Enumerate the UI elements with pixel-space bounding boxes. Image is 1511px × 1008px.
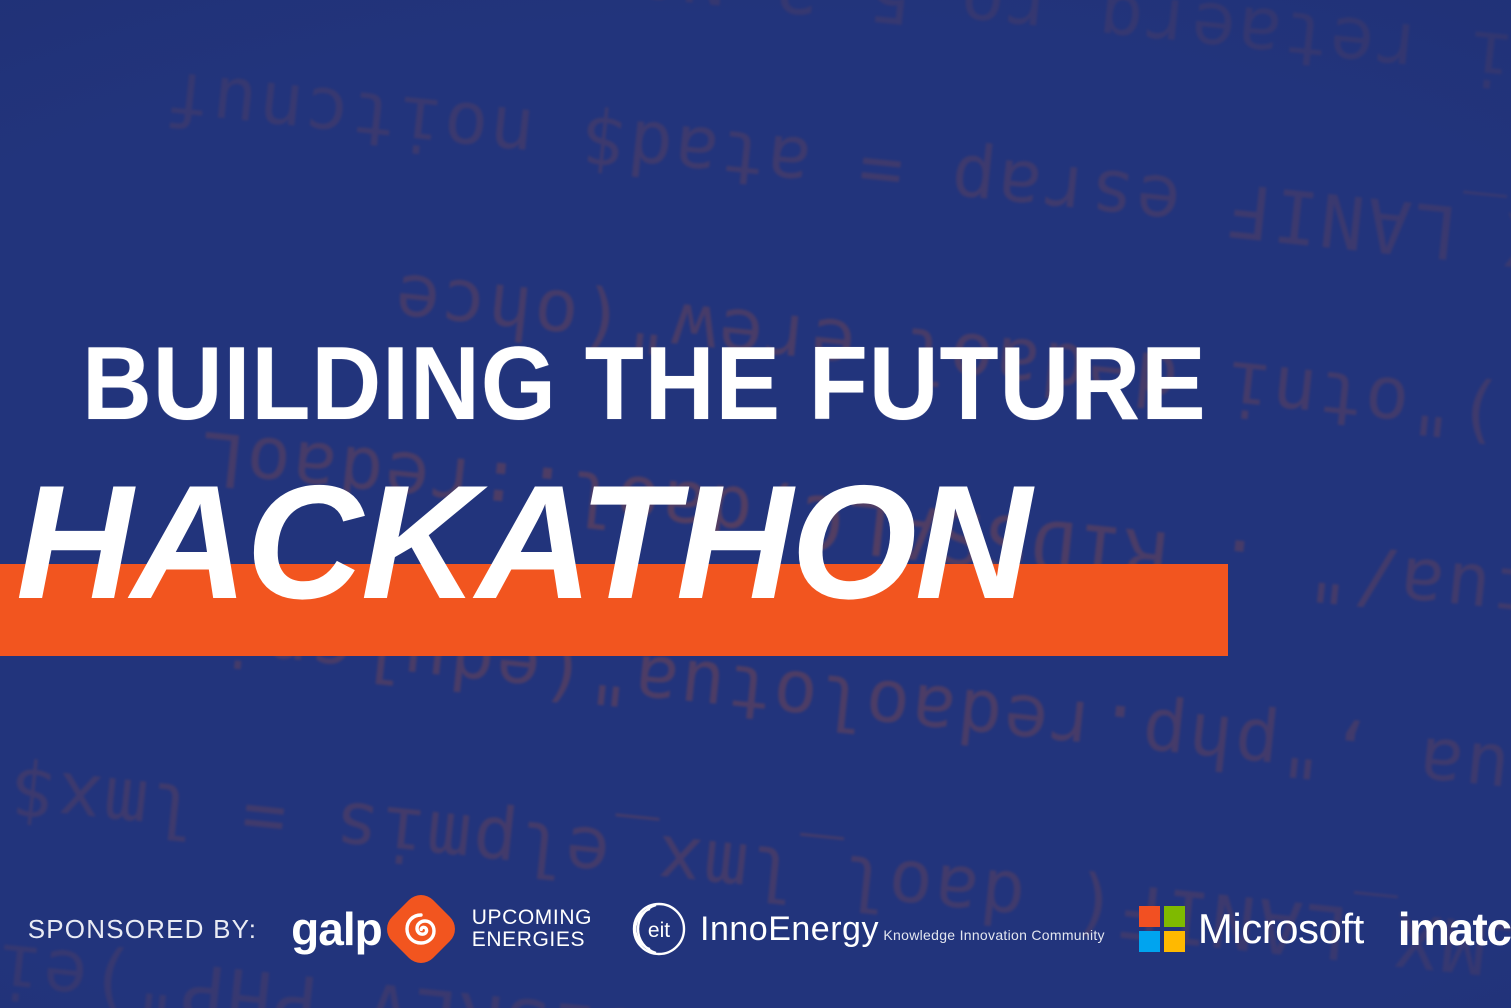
corner-logo: G URE — [0, 86, 88, 196]
sponsor-logo-microsoft[interactable]: Microsoft — [1139, 906, 1364, 952]
sponsored-by-label: SPONSORED BY: — [28, 914, 257, 945]
svg-text:eit: eit — [648, 919, 670, 942]
microsoft-squares-icon — [1139, 906, 1185, 952]
galp-tagline-line-2: ENERGIES — [472, 928, 585, 951]
eit-text-block: InnoEnergy Knowledge Innovation Communit… — [700, 912, 1105, 946]
microsoft-tile-red — [1139, 906, 1160, 927]
page-title: BUILDING THE FUTURE — [82, 332, 1207, 436]
galp-tagline-line-1: UPCOMING — [472, 906, 592, 929]
code-line: ;("!!!deriuqer si retaerg ro 5.2 NOISREV… — [0, 0, 1511, 181]
galp-tagline: UPCOMING ENERGIES — [472, 907, 592, 952]
galp-wordmark: galp — [291, 906, 382, 952]
innoenergy-name: InnoEnergy — [700, 910, 879, 948]
eit-circle-icon: eit — [626, 898, 688, 960]
code-line: redaol/ni.redaoltua ,"php.redaolotua"(ed… — [281, 0, 1511, 14]
sponsor-logo-eit-innoenergy[interactable]: eit InnoEnergy Knowledge Innovation Comm… — [626, 898, 1105, 960]
code-line: eslaf ,)( LMX_LANIF esrap = atad$ noitcn… — [160, 54, 1511, 343]
sponsor-logo-imatch[interactable]: imatch — [1398, 906, 1511, 952]
innoenergy-tagline: Knowledge Innovation Community — [883, 927, 1104, 943]
corner-logo-line-1: G — [0, 86, 52, 140]
corner-logo-line-2: URE — [0, 142, 52, 196]
sponsor-strip: SPONSORED BY: galp UPCOMING ENERGIES — [0, 892, 1511, 966]
microsoft-tile-green — [1164, 906, 1185, 927]
hackathon-wordmark: HACKATHON — [16, 462, 1030, 624]
code-line: { )eslaf ,LMX_LANIF( daol_lmx_elpmis = l… — [0, 735, 1511, 1008]
microsoft-wordmark: Microsoft — [1198, 908, 1364, 950]
sponsor-logo-galp[interactable]: galp UPCOMING ENERGIES — [291, 900, 592, 958]
microsoft-tile-yellow — [1164, 931, 1185, 952]
galp-flame-icon — [380, 888, 462, 970]
microsoft-tile-blue — [1139, 931, 1160, 952]
hackathon-poster: } (("<" ,NOISREV_PHP ,"5.2")erapmoc_nois… — [0, 0, 1511, 1008]
